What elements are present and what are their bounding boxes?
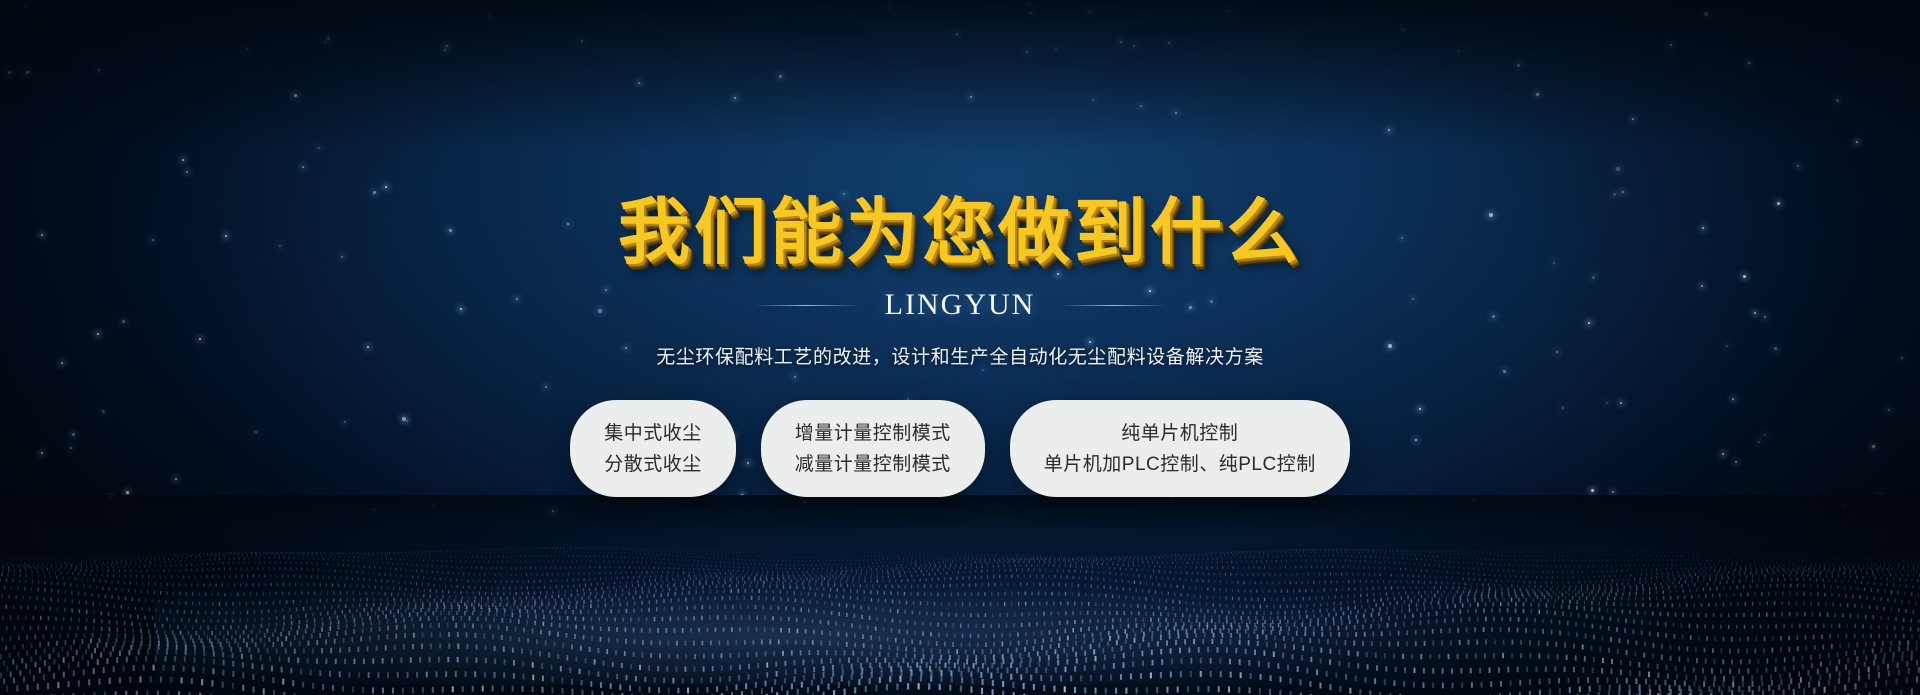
brand-row: LINGYUN [753, 288, 1168, 322]
card-line: 单片机加PLC控制、纯PLC控制 [1044, 455, 1316, 474]
card-line: 减量计量控制模式 [795, 455, 951, 474]
divider-line-left [753, 305, 861, 306]
card-line: 增量计量控制模式 [795, 424, 951, 443]
divider-line-right [1059, 305, 1167, 306]
feature-card-list: 集中式收尘 分散式收尘 增量计量控制模式 减量计量控制模式 纯单片机控制 单片机… [570, 400, 1349, 497]
card-line: 分散式收尘 [604, 455, 702, 474]
feature-card-controller-type[interactable]: 纯单片机控制 单片机加PLC控制、纯PLC控制 [1010, 400, 1350, 497]
feature-card-metering-control-mode[interactable]: 增量计量控制模式 减量计量控制模式 [761, 400, 985, 497]
hero-banner: 我们能为您做到什么 LINGYUN 无尘环保配料工艺的改进，设计和生产全自动化无… [0, 0, 1920, 695]
brand-name: LINGYUN [885, 288, 1036, 322]
feature-card-dust-collection[interactable]: 集中式收尘 分散式收尘 [570, 400, 736, 497]
banner-headline: 我们能为您做到什么 [618, 196, 1302, 268]
card-line: 纯单片机控制 [1121, 424, 1238, 443]
banner-tagline: 无尘环保配料工艺的改进，设计和生产全自动化无尘配料设备解决方案 [656, 342, 1264, 369]
card-line: 集中式收尘 [604, 424, 702, 443]
banner-content: 我们能为您做到什么 LINGYUN 无尘环保配料工艺的改进，设计和生产全自动化无… [0, 0, 1920, 695]
